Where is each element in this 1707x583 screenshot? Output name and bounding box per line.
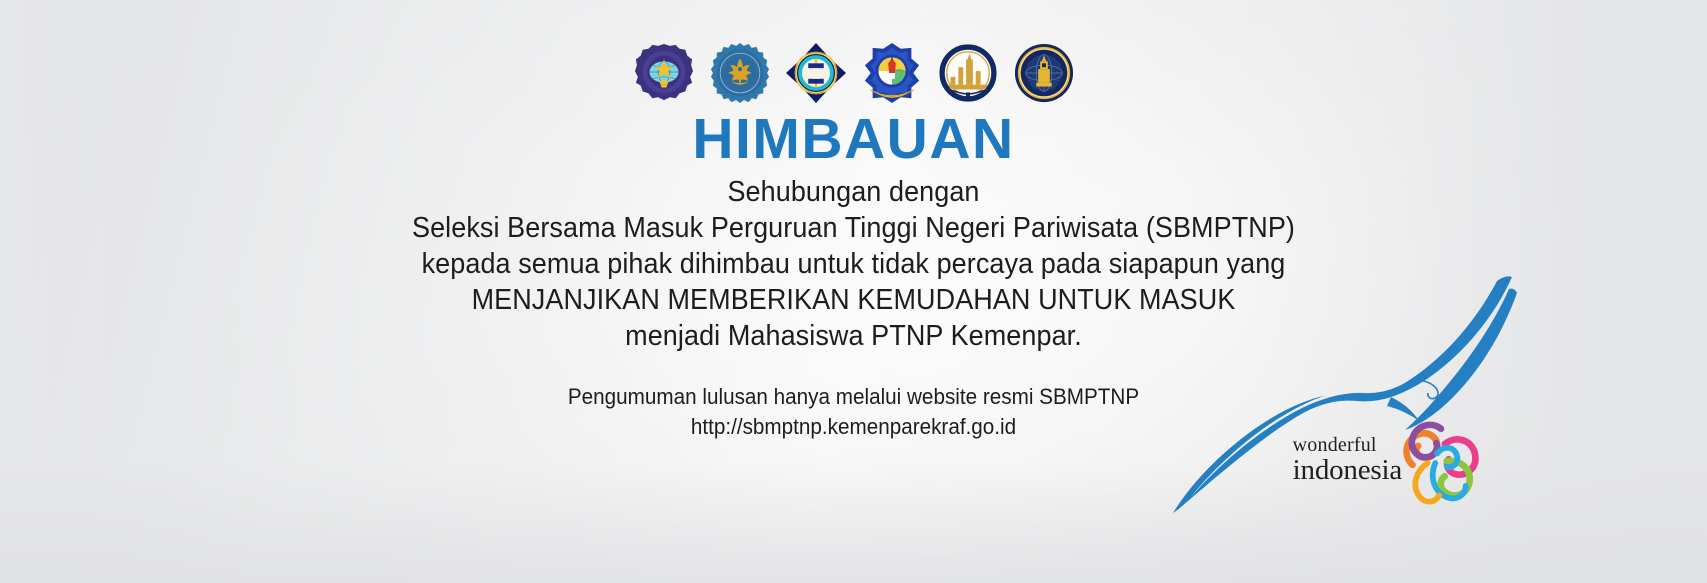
poltekpar-medan-logo <box>861 42 923 104</box>
poltekpar-bali-logo <box>709 42 771 104</box>
wonderful-indonesia-wordmark: wonderful indonesia <box>1293 435 1402 485</box>
poltekpar-makassar-logo <box>785 42 847 104</box>
institution-logo-strip <box>0 42 1707 104</box>
himbauan-banner: wonderful indonesia HIMBAUAN Sehubungan … <box>0 0 1707 583</box>
official-website-url[interactable]: http://sbmptnp.kemenparekraf.go.id <box>51 412 1656 442</box>
poltekpar-palembang-logo <box>937 42 999 104</box>
page-title: HIMBAUAN <box>0 110 1707 170</box>
message-line-2: Seleksi Bersama Masuk Perguruan Tinggi N… <box>60 210 1648 246</box>
message-line-5: menjadi Mahasiswa PTNP Kemenpar. <box>60 318 1648 354</box>
announcement-footnote: Pengumuman lulusan hanya melalui website… <box>0 382 1707 442</box>
message-line-3: kepada semua pihak dihimbau untuk tidak … <box>60 246 1648 282</box>
message-line-4: MENJANJIKAN MEMBERIKAN KEMUDAHAN UNTUK M… <box>60 282 1648 318</box>
announcement-content: HIMBAUAN Sehubungan dengan Seleksi Bersa… <box>0 110 1707 442</box>
poltekpar-lombok-logo <box>1013 42 1075 104</box>
wonderful-indonesia-line1: wonderful <box>1293 435 1402 455</box>
message-line-1: Sehubungan dengan <box>60 174 1648 210</box>
footnote-line-1: Pengumuman lulusan hanya melalui website… <box>51 382 1656 412</box>
announcement-message: Sehubungan dengan Seleksi Bersama Masuk … <box>0 174 1707 354</box>
stp-bandung-logo <box>633 42 695 104</box>
wonderful-indonesia-line2: indonesia <box>1293 456 1402 485</box>
